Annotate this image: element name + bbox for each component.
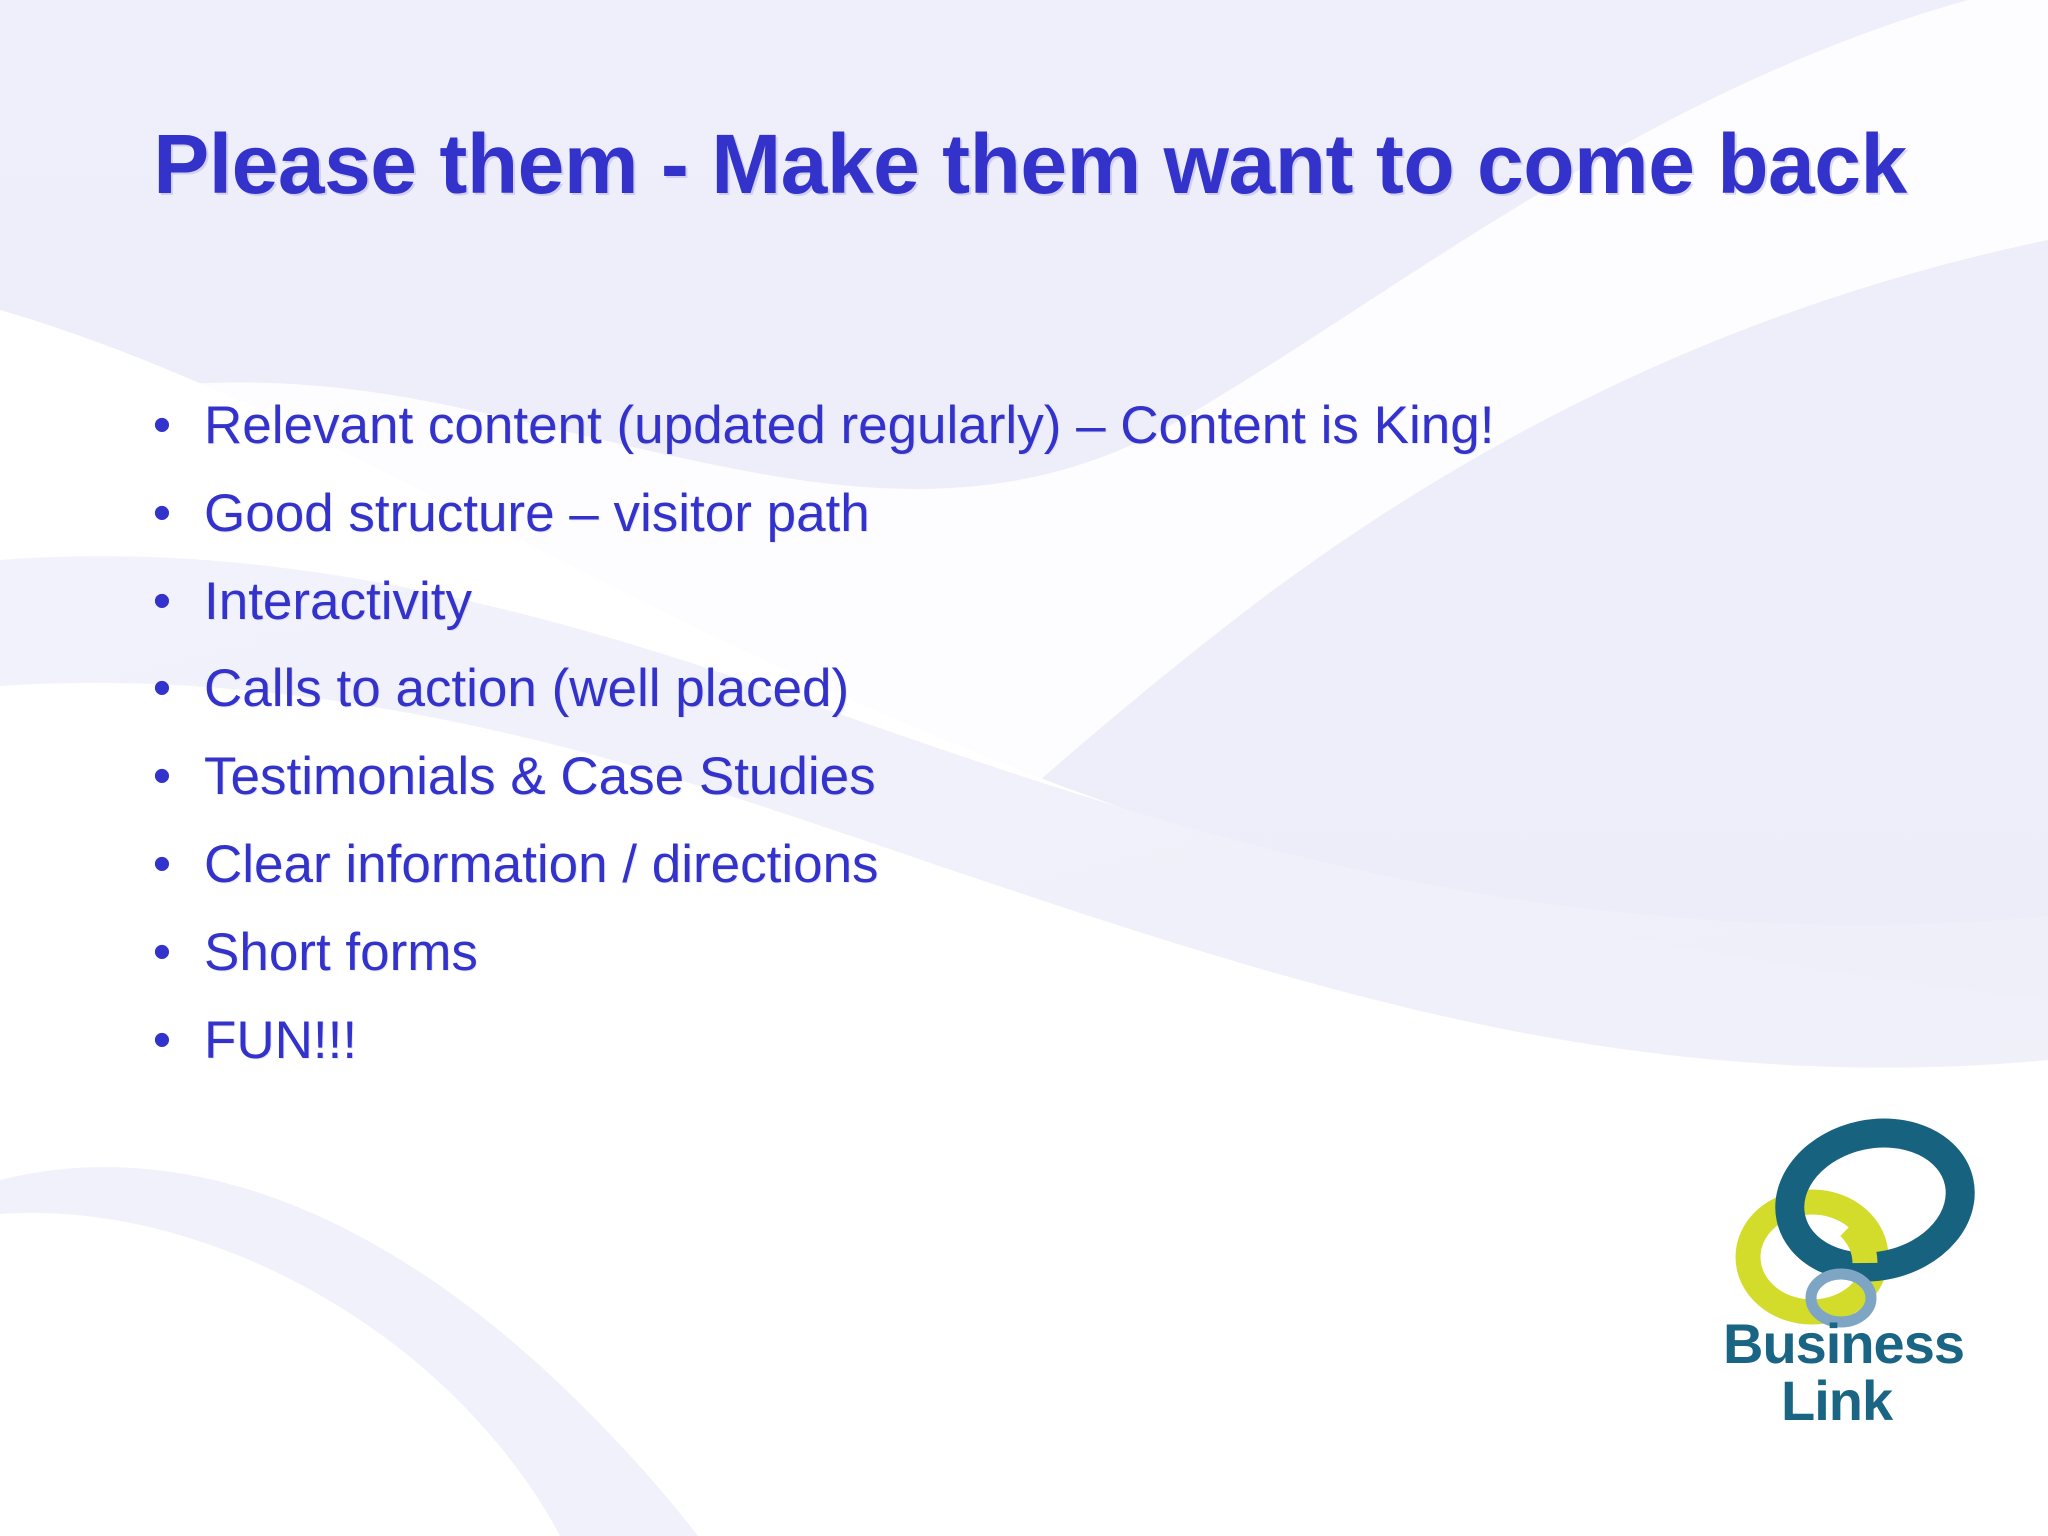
list-item-label: Relevant content (updated regularly) – C… xyxy=(204,392,1760,460)
bullet-list: • Relevant content (updated regularly) –… xyxy=(120,392,1760,1095)
business-link-logo: Business Link xyxy=(1715,1095,2015,1425)
bullet-point-icon: • xyxy=(120,919,204,986)
bullet-point-icon: • xyxy=(120,392,204,459)
business-link-logo-icon: Business Link xyxy=(1715,1095,2015,1425)
list-item-label: FUN!!! xyxy=(204,1007,1760,1075)
list-item: • Testimonials & Case Studies xyxy=(120,743,1760,811)
logo-text-line2: Link xyxy=(1781,1369,1894,1425)
list-item-label: Calls to action (well placed) xyxy=(204,655,1760,723)
slide-title: Please them - Make them want to come bac… xyxy=(110,118,1950,210)
slide: Please them - Make them want to come bac… xyxy=(0,0,2048,1536)
bullet-point-icon: • xyxy=(120,480,204,547)
list-item-label: Short forms xyxy=(204,919,1760,987)
bullet-point-icon: • xyxy=(120,743,204,810)
logo-text-line1: Business xyxy=(1723,1312,1964,1375)
bullet-point-icon: • xyxy=(120,831,204,898)
list-item: • Calls to action (well placed) xyxy=(120,655,1760,723)
bullet-point-icon: • xyxy=(120,568,204,635)
list-item-label: Clear information / directions xyxy=(204,831,1760,899)
bullet-point-icon: • xyxy=(120,1007,204,1074)
list-item: • FUN!!! xyxy=(120,1007,1760,1075)
list-item: • Interactivity xyxy=(120,568,1760,636)
list-item: • Short forms xyxy=(120,919,1760,987)
list-item: • Good structure – visitor path xyxy=(120,480,1760,548)
list-item: • Relevant content (updated regularly) –… xyxy=(120,392,1760,460)
list-item-label: Good structure – visitor path xyxy=(204,480,1760,548)
list-item: • Clear information / directions xyxy=(120,831,1760,899)
list-item-label: Interactivity xyxy=(204,568,1760,636)
list-item-label: Testimonials & Case Studies xyxy=(204,743,1760,811)
bullet-point-icon: • xyxy=(120,655,204,722)
